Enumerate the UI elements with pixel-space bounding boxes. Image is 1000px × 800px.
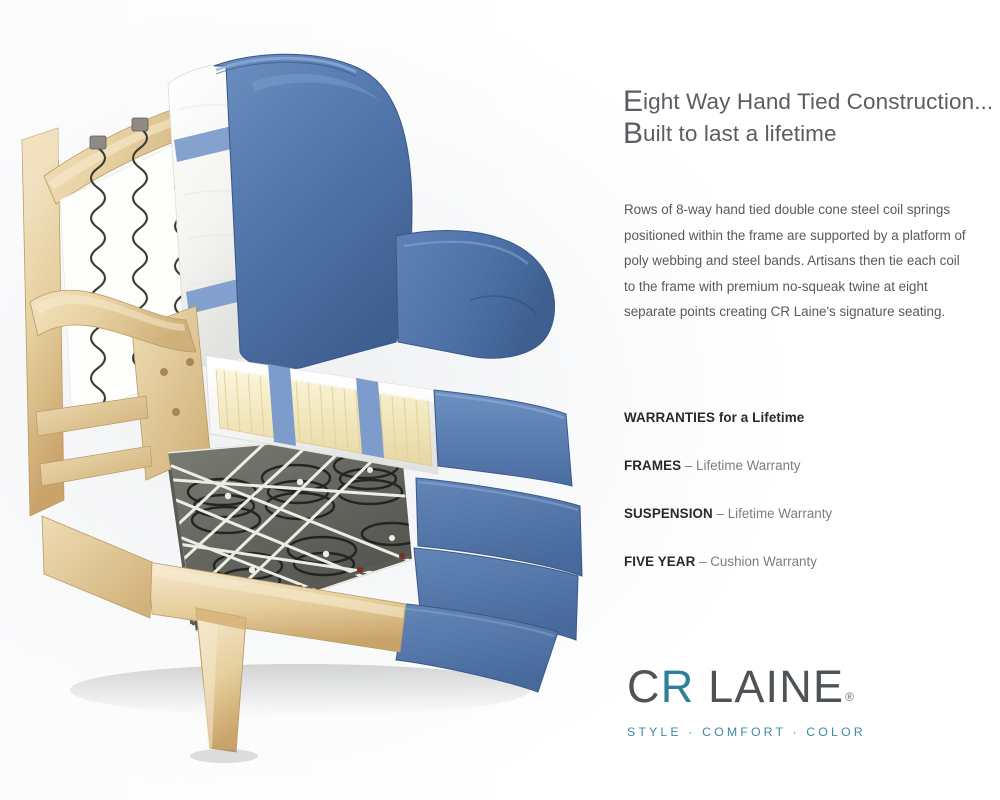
- warranty-label-suspension: SUSPENSION: [624, 506, 713, 521]
- warranty-desc-five-year: Cushion Warranty: [710, 554, 817, 569]
- warranties-section: WARRANTIES for a Lifetime FRAMES – Lifet…: [624, 410, 984, 570]
- logo-letter-r: R: [661, 661, 695, 712]
- headline-line-2: Built to last a lifetime: [623, 118, 993, 150]
- seat-cushion-upholstery: [434, 390, 572, 486]
- logo-word-laine: LAINE: [694, 661, 844, 712]
- warranty-dash-five-year: –: [695, 554, 710, 569]
- chair-arm-upholstery: [396, 231, 555, 359]
- text-panel: Eight Way Hand Tied Construction... Buil…: [621, 0, 1000, 800]
- body-paragraph: Rows of 8-way hand tied double cone stee…: [624, 197, 974, 325]
- logo-wordmark: CR LAINE®: [627, 662, 867, 723]
- warranty-row-suspension: SUSPENSION – Lifetime Warranty: [624, 506, 984, 522]
- warranty-dash-suspension: –: [713, 506, 728, 521]
- chair-leg: [196, 608, 246, 752]
- chair-cutaway-illustration: [0, 0, 620, 800]
- leg-shadow: [190, 749, 258, 763]
- product-photo: [0, 0, 620, 800]
- warranties-heading-text: WARRANTIES for a Lifetime: [624, 410, 804, 425]
- warranty-label-frames: FRAMES: [624, 458, 681, 473]
- logo-letter-c: C: [627, 661, 661, 712]
- poster-page: Eight Way Hand Tied Construction... Buil…: [0, 0, 1000, 800]
- warranty-desc-suspension: Lifetime Warranty: [728, 506, 832, 521]
- warranty-dash-frames: –: [681, 458, 696, 473]
- logo-tagline: STYLE · COMFORT · COLOR: [627, 725, 867, 739]
- warranty-row-five-year: FIVE YEAR – Cushion Warranty: [624, 554, 984, 570]
- cr-laine-logo: CR LAINE® STYLE · COMFORT · COLOR: [627, 662, 867, 739]
- warranty-desc-frames: Lifetime Warranty: [696, 458, 800, 473]
- headline: Eight Way Hand Tied Construction... Buil…: [623, 86, 993, 150]
- body-copy: Rows of 8-way hand tied double cone stee…: [624, 197, 974, 325]
- frame-corner-block: [42, 516, 152, 618]
- headline-line-2-text: uilt to last a lifetime: [643, 121, 837, 146]
- warranties-heading: WARRANTIES for a Lifetime: [624, 410, 984, 426]
- back-cushion-upholstery: [214, 54, 412, 369]
- warranty-row-frames: FRAMES – Lifetime Warranty: [624, 458, 984, 474]
- warranty-label-five-year: FIVE YEAR: [624, 554, 695, 569]
- headline-line-1: Eight Way Hand Tied Construction...: [623, 86, 993, 118]
- registered-trademark-icon: ®: [845, 690, 855, 704]
- headline-dropcap-b: B: [623, 117, 643, 150]
- headline-dropcap-e: E: [623, 85, 643, 118]
- headline-line-1-text: ight Way Hand Tied Construction...: [643, 89, 993, 114]
